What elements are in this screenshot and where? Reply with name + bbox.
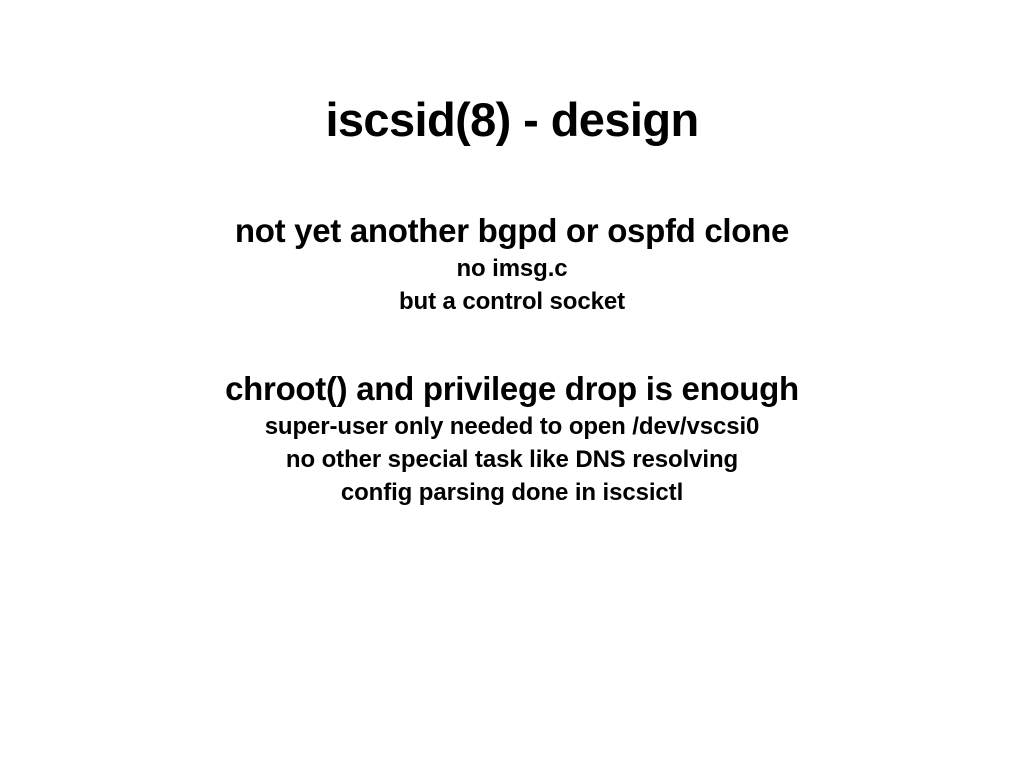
block-heading: chroot() and privilege drop is enough xyxy=(0,368,1024,410)
block-line: no other special task like DNS resolving xyxy=(0,443,1024,476)
presentation-slide: iscsid(8) - design not yet another bgpd … xyxy=(0,0,1024,768)
block-line: but a control socket xyxy=(0,285,1024,318)
block-line: config parsing done in iscsictl xyxy=(0,476,1024,509)
content-block-privilege-model: chroot() and privilege drop is enough su… xyxy=(0,368,1024,509)
content-block-design-approach: not yet another bgpd or ospfd clone no i… xyxy=(0,210,1024,318)
block-heading: not yet another bgpd or ospfd clone xyxy=(0,210,1024,252)
block-line: super-user only needed to open /dev/vscs… xyxy=(0,410,1024,443)
slide-body: not yet another bgpd or ospfd clone no i… xyxy=(0,210,1024,509)
block-line: no imsg.c xyxy=(0,252,1024,285)
slide-title: iscsid(8) - design xyxy=(0,92,1024,148)
